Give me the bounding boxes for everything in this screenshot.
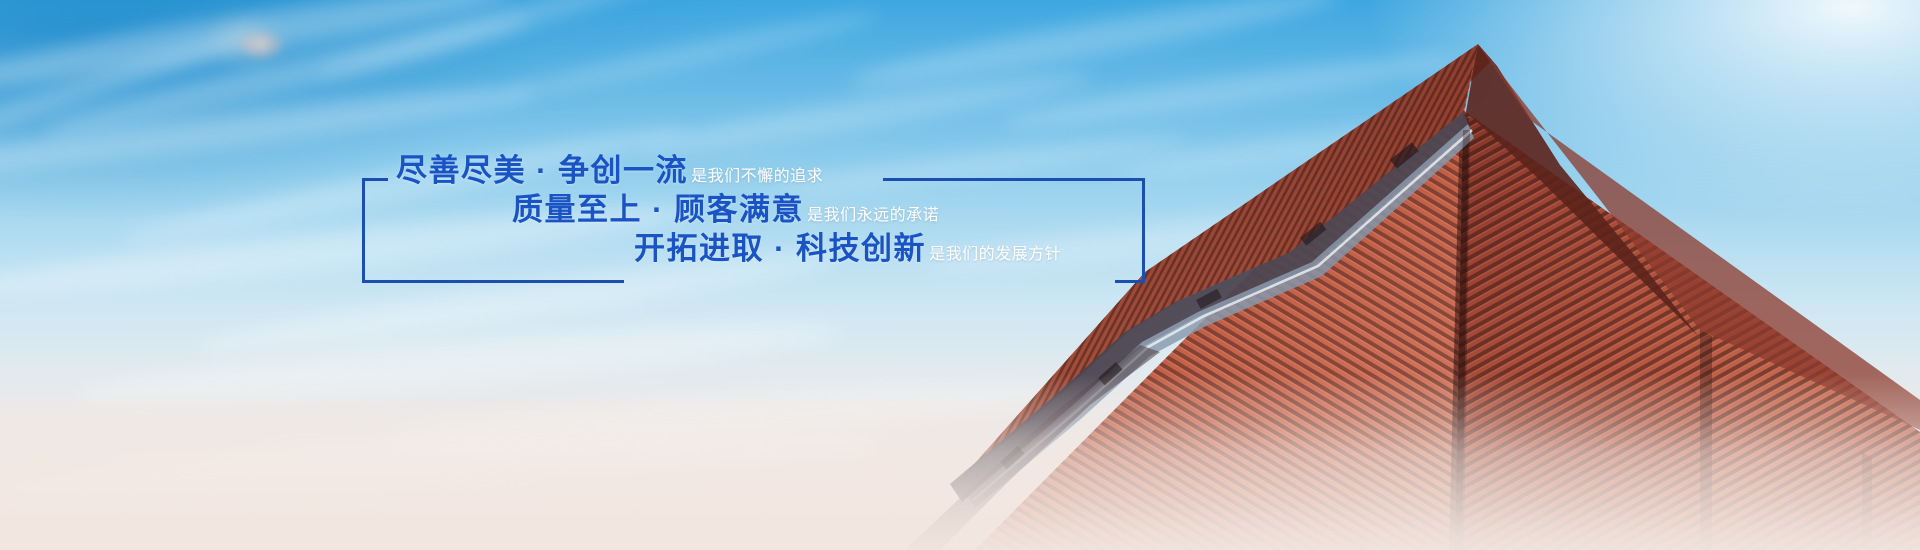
- hero-banner: 尽善尽美 · 争创一流 是我们不懈的追求 质量至上 · 顾客满意 是我们永远的承…: [0, 0, 1920, 550]
- ground-haze: [0, 374, 1920, 550]
- slogan-headline-3: 开拓进取 · 科技创新: [634, 233, 926, 264]
- slogan-line-3: 开拓进取 · 科技创新 是我们的发展方针: [634, 233, 1061, 264]
- slogan-list: 尽善尽美 · 争创一流 是我们不懈的追求 质量至上 · 顾客满意 是我们永远的承…: [362, 178, 1145, 283]
- slogan-frame: 尽善尽美 · 争创一流 是我们不懈的追求 质量至上 · 顾客满意 是我们永远的承…: [362, 178, 1145, 283]
- slogan-line-2: 质量至上 · 顾客满意 是我们永远的承诺: [512, 194, 939, 225]
- slogan-tagline-1: 是我们不懈的追求: [691, 169, 823, 185]
- slogan-tagline-2: 是我们永远的承诺: [807, 208, 939, 224]
- slogan-tagline-3: 是我们的发展方针: [929, 247, 1061, 263]
- slogan-headline-1: 尽善尽美 · 争创一流: [396, 155, 688, 186]
- sky-right-glow: [1056, 0, 1920, 341]
- lens-flare-spot: [238, 30, 284, 60]
- slogan-headline-2: 质量至上 · 顾客满意: [512, 194, 804, 225]
- slogan-line-1: 尽善尽美 · 争创一流 是我们不懈的追求: [396, 155, 823, 186]
